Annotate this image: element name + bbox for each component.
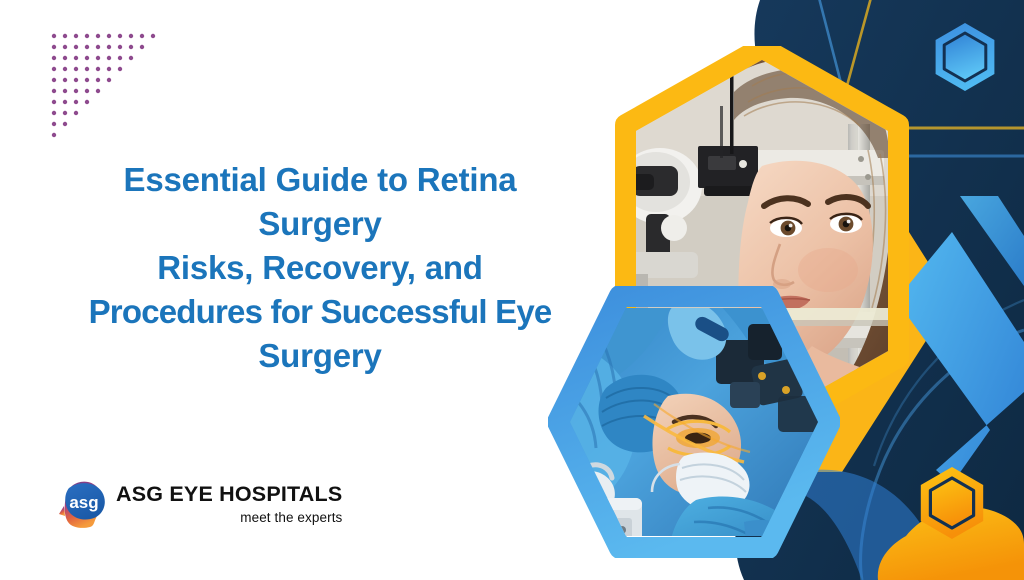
- logo-name: ASG EYE HOSPITALS: [116, 484, 342, 506]
- title-line-2: Surgery: [60, 202, 580, 246]
- logo-tagline: meet the experts: [116, 511, 342, 525]
- title-line-1: Essential Guide to Retina: [60, 158, 580, 202]
- asg-logo-icon: asg: [56, 476, 112, 532]
- title-line-4: Procedures for Successful Eye: [60, 290, 580, 334]
- dot-grid-decoration: [50, 32, 160, 142]
- title-line-5: Surgery: [60, 334, 580, 378]
- banner-canvas: Essential Guide to Retina Surgery Risks,…: [0, 0, 1024, 580]
- hero-image-eye-surgery: [548, 286, 840, 558]
- page-title: Essential Guide to Retina Surgery Risks,…: [60, 158, 580, 377]
- title-line-3: Risks, Recovery, and: [60, 246, 580, 290]
- asg-wordmark: asg: [69, 493, 98, 512]
- brand-logo[interactable]: asg ASG EYE HOSPITALS meet the experts: [56, 476, 342, 532]
- logo-text-group: ASG EYE HOSPITALS meet the experts: [116, 484, 342, 524]
